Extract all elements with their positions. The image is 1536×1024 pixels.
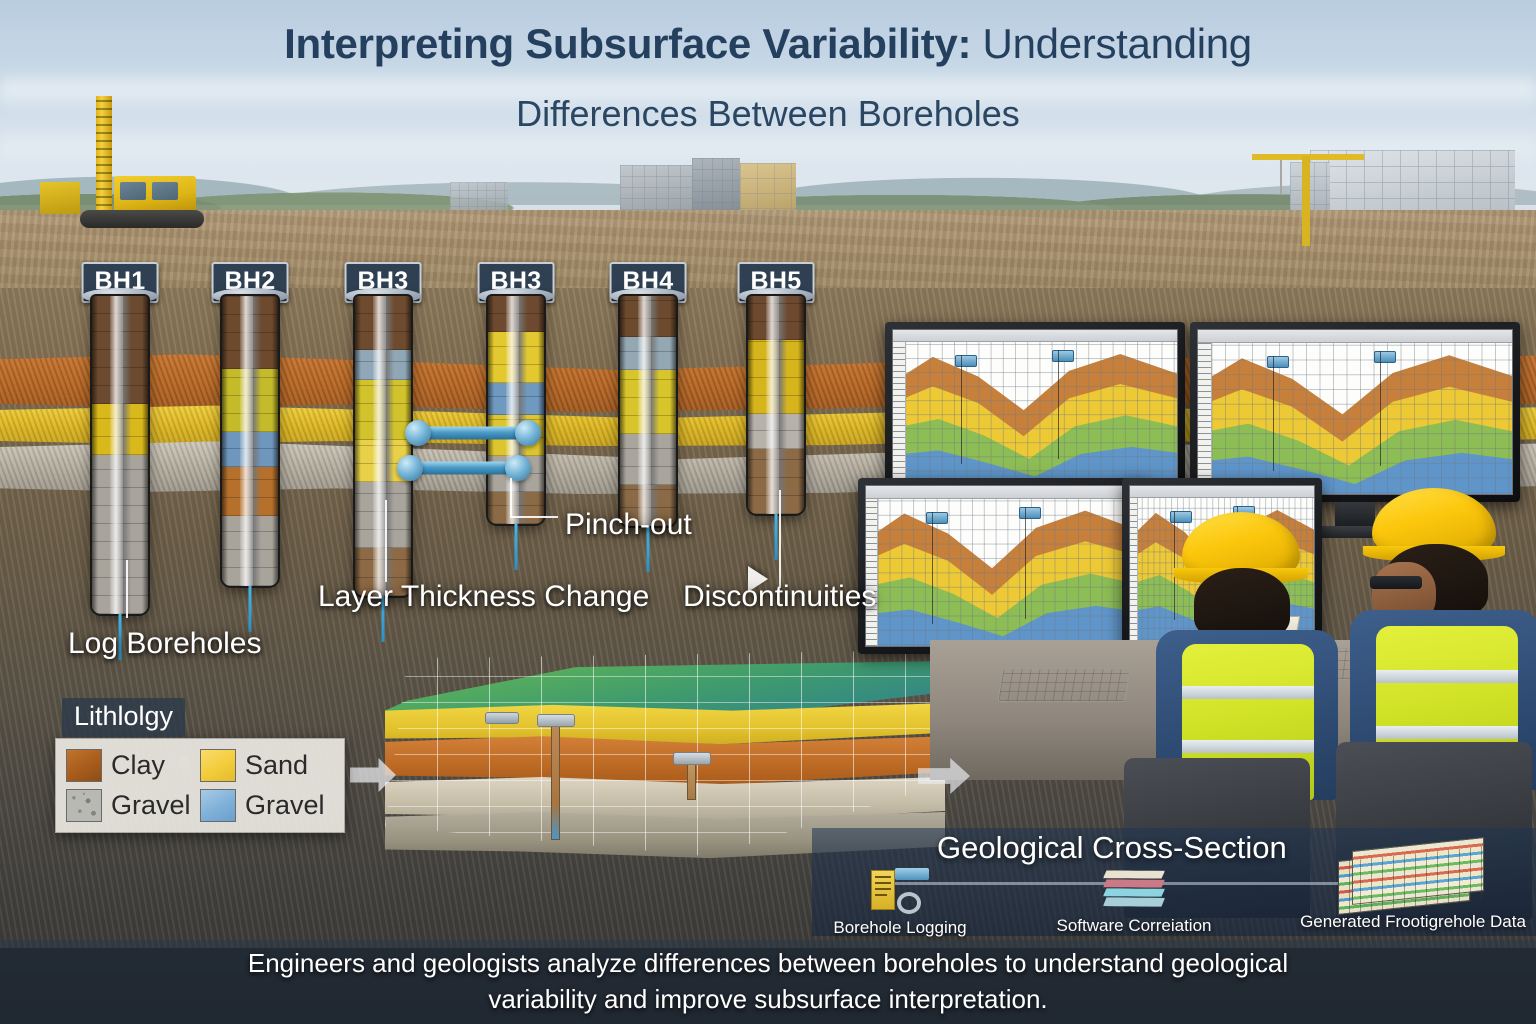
core-segment-sand [355,380,411,440]
core-segment-clay [748,449,804,514]
leader-pinch-out-vert [510,478,512,518]
borehole-6[interactable]: BH5 [748,262,804,574]
depth-ruler [893,342,906,486]
borehole-stem-2 [249,586,252,632]
workflow-label-2: Generated Frootigrehole Data [1292,912,1534,932]
background-building-left [620,165,692,213]
page-title: Interpreting Subsurface Variability: Und… [0,18,1536,135]
xsec-well-marker-1 [1052,350,1074,362]
lithology-legend: Clay Sand Gravel Gravel [55,738,345,833]
borehole-2[interactable]: BH2 [222,262,278,646]
workflow-title: Geological Cross-Section [937,830,1287,866]
background-building-center [692,158,740,213]
core-segment-sand [748,340,804,414]
borehole-core-tube-3 [355,296,411,596]
core-segment-clay [748,296,804,340]
software-toolbar[interactable] [1130,486,1314,498]
block-borehole-collar-1 [537,714,575,727]
tower-crane [1248,138,1368,246]
core-segment-clay [488,296,544,332]
software-toolbar[interactable] [866,486,1140,499]
borehole-core-tube-2 [222,296,278,586]
core-segment-sand [92,404,148,455]
workflow-step-software-correlation[interactable]: Software Correiation [1024,868,1244,936]
leader-log-boreholes [126,560,128,618]
borehole-core-tube-6 [748,296,804,514]
xsec-well-marker-1 [1019,507,1041,519]
cross-section-display[interactable] [892,329,1178,487]
xsec-well-trace-0 [961,355,962,464]
title-line-2: Differences Between Boreholes [0,93,1536,135]
core-segment-gravel [355,482,411,548]
workflow-step-generated-data[interactable]: Generated Frootigrehole Data [1292,844,1534,932]
cross-section-display[interactable] [1197,329,1513,495]
legend-label-gravel-grey: Gravel [111,790,191,821]
monitor-top-left[interactable] [885,322,1185,494]
workflow-step-borehole-logging[interactable]: Borehole Logging [820,866,980,938]
legend-label-sand: Sand [245,750,308,781]
borehole-logging-icon [867,866,933,914]
correlation-connector-lower [410,455,518,481]
legend-label-clay: Clay [111,750,165,781]
core-segment-gravel [748,414,804,449]
xsec-well-trace-0 [1273,356,1274,471]
borehole-stem-6 [775,514,778,560]
leader-pinch-out-horiz [510,516,558,518]
depth-ruler [866,499,878,646]
correlation-connector-upper [418,420,528,446]
legend-swatch-gravel-blue [200,789,236,822]
block-borehole-1 [551,720,560,840]
borehole-stem-4 [515,524,518,570]
software-correlation-icon [1101,868,1167,912]
core-segment-clay [620,296,676,337]
borehole-core-tube-1 [92,296,148,614]
core-segment-clay [222,467,278,516]
cross-section-display[interactable] [865,485,1141,647]
safety-glasses-right [1370,576,1422,589]
background-building-tan [740,163,796,213]
workflow-label-0: Borehole Logging [820,918,980,938]
depth-ruler [1198,343,1212,494]
xsec-well-trace-0 [932,512,933,624]
core-segment-sand [488,332,544,382]
xsec-well-trace-1 [1380,351,1381,466]
geological-cross-section [866,486,1140,646]
legend-title: Lithlolgy [62,698,185,737]
monitor-top-right[interactable] [1190,322,1520,502]
workflow-bar: Geological Cross-Section Borehole Loggin… [812,828,1536,936]
caption-line-1: Engineers and geologists analyze differe… [0,946,1536,982]
annotation-discontinuities: Discontinuities [683,580,876,614]
core-segment-gravel-blue [355,350,411,380]
title-sub: Understanding [971,20,1252,67]
borehole-core-tube-5 [620,296,676,526]
legend-item-clay: Clay [66,749,200,782]
footer-caption: Engineers and geologists analyze differe… [0,940,1536,1024]
legend-item-sand: Sand [200,749,334,782]
core-segment-clay [355,296,411,350]
title-main: Interpreting Subsurface Variability: [284,20,971,67]
core-segment-gravel [620,434,676,485]
core-segment-sand [620,370,676,434]
legend-label-gravel-blue: Gravel [245,790,325,821]
geological-cross-section [893,330,1177,486]
xsec-well-trace-1 [1025,507,1026,619]
annotation-pinch-out: Pinch-out [565,508,692,542]
xsec-well-trace-1 [1058,350,1059,459]
core-segment-clay [488,492,544,524]
keyboard-left[interactable] [997,668,1130,702]
legend-swatch-sand [200,749,236,782]
core-segment-gravel [92,455,148,614]
xsec-well-marker-1 [1374,351,1396,363]
legend-item-gravel-blue: Gravel [200,789,334,822]
infographic-canvas: Interpreting Subsurface Variability: Und… [0,0,1536,1024]
core-segment-clay [222,296,278,369]
xsec-well-marker-0 [1267,356,1289,368]
generated-data-icon [1338,844,1488,910]
core-segment-clay [92,296,148,404]
core-segment-gravel [222,516,278,586]
depth-ruler [1130,498,1138,642]
geological-cross-section [1198,330,1512,494]
annotation-log-boreholes: Log Boreholes [68,627,261,661]
core-segment-gravel-blue [222,432,278,467]
software-toolbar[interactable] [1198,330,1512,343]
block-borehole-collar-2 [673,752,711,765]
leader-discontinuities [779,490,781,588]
workflow-label-1: Software Correiation [1024,916,1244,936]
core-segment-sand [222,369,278,433]
borehole-core-tube-4 [488,296,544,524]
caption-line-2: variability and improve subsurface inter… [0,982,1536,1018]
annotation-layer-thickness: Layer Thickness Change [318,580,649,614]
core-segment-gravel-blue [620,337,676,369]
leader-layer-thickness [385,500,387,582]
xsec-well-marker-0 [926,512,948,524]
borehole-1[interactable]: BH1 [92,262,148,674]
legend-swatch-gravel-grey [66,789,102,822]
background-building-far-left [450,182,508,212]
legend-item-gravel-grey: Gravel [66,789,200,822]
legend-swatch-clay [66,749,102,782]
block-borehole-collar-3 [485,712,519,724]
software-toolbar[interactable] [893,330,1177,342]
xsec-well-marker-0 [955,355,977,367]
monitor-bottom-left[interactable] [858,478,1148,654]
core-segment-gravel-blue [488,383,544,415]
